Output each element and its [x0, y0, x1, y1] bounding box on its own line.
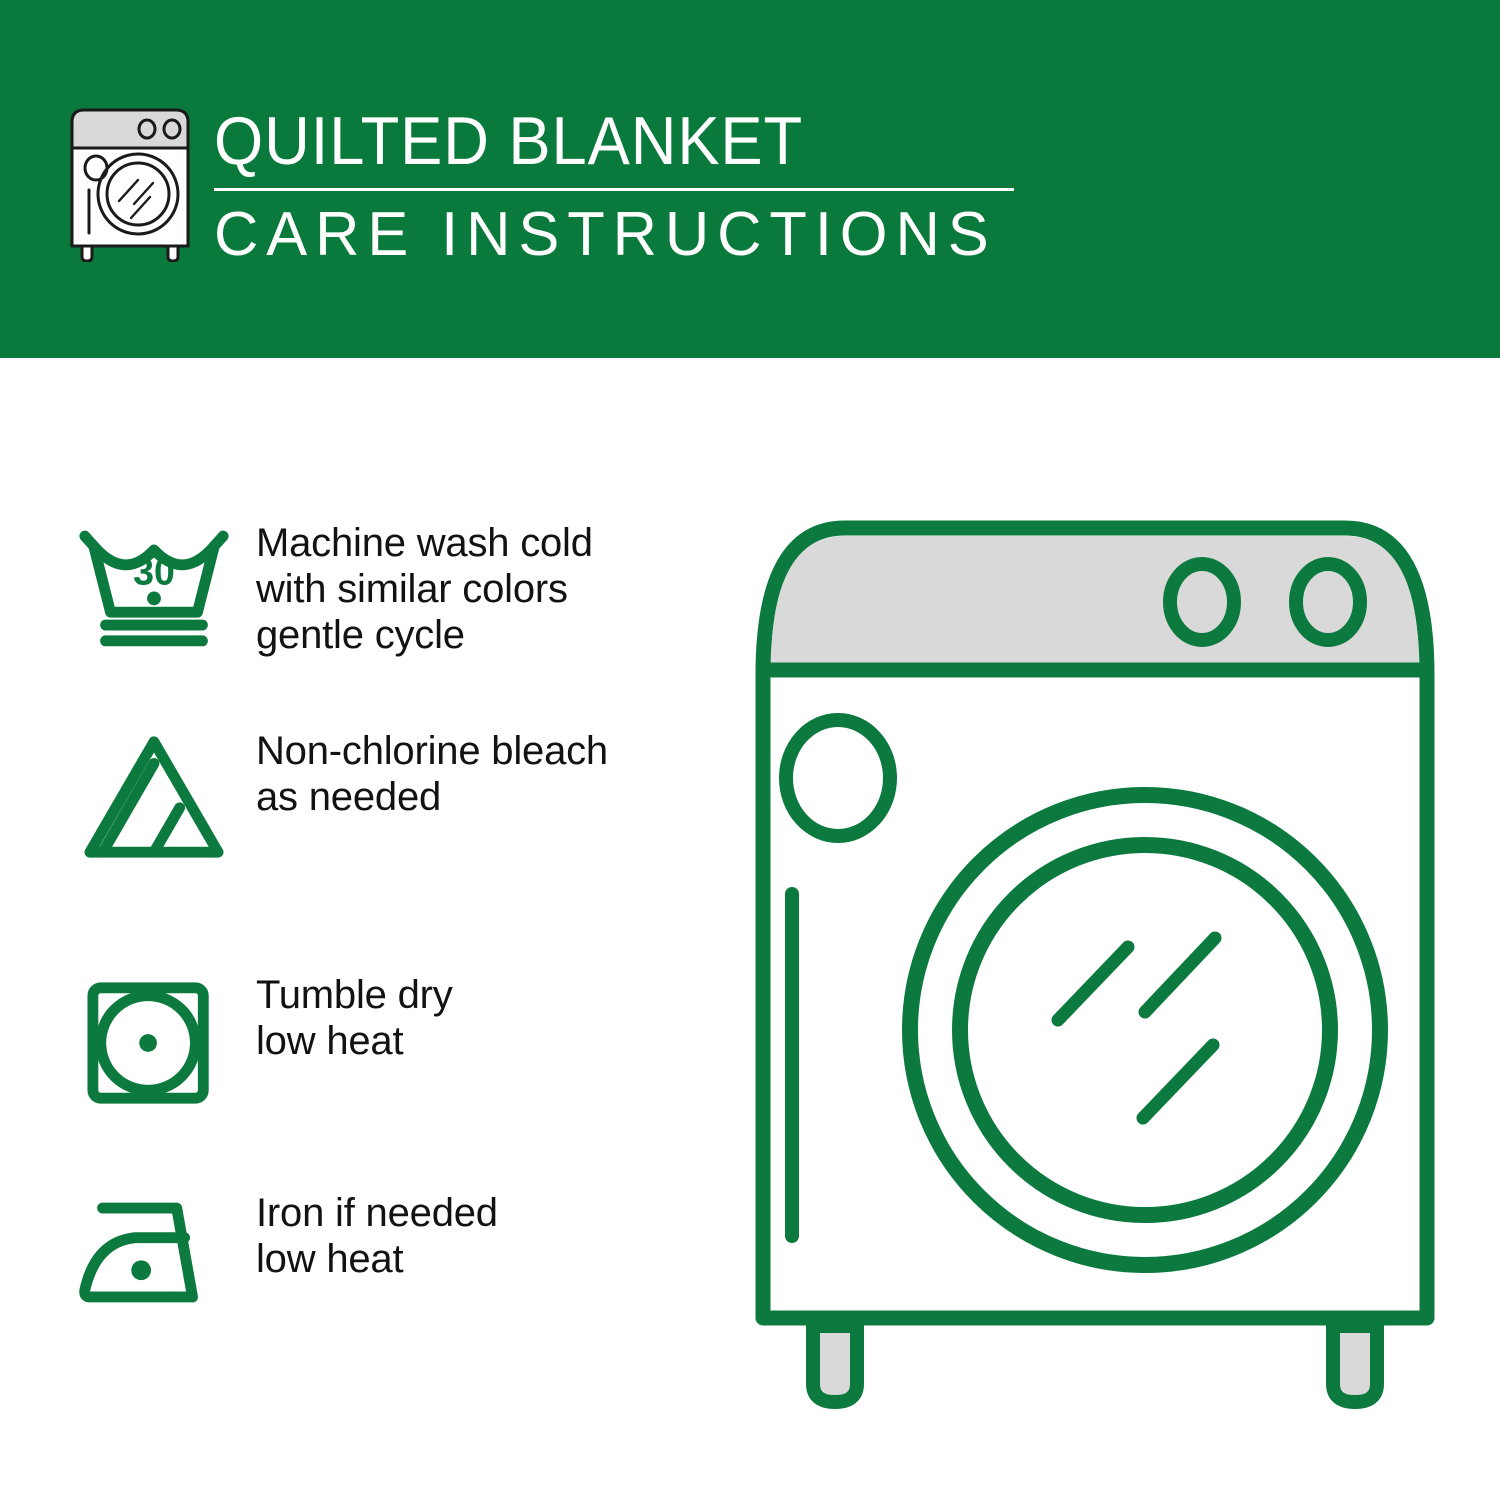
control-panel [771, 536, 1419, 670]
care-row-tumble-dry: Tumble dry low heat [70, 972, 710, 1110]
care-label-bleach: Non-chlorine bleach as needed [240, 728, 710, 820]
page-subtitle: CARE INSTRUCTIONS [214, 199, 1016, 271]
care-label-iron: Iron if needed low heat [240, 1190, 710, 1282]
iron-low-heat-icon [70, 1190, 240, 1314]
care-row-machine-wash: 30 Machine wash cold with similar colors… [70, 520, 710, 658]
care-label-line: gentle cycle [256, 612, 710, 658]
care-label-line: Tumble dry [256, 972, 710, 1018]
care-label-line: low heat [256, 1018, 710, 1064]
care-label-line: with similar colors [256, 566, 710, 612]
non-chlorine-bleach-triangle-icon [70, 728, 240, 866]
care-label-machine-wash: Machine wash cold with similar colors ge… [240, 520, 710, 658]
page-title: QUILTED BLANKET [214, 104, 967, 178]
wash-basin-30-gentle-icon: 30 [70, 520, 240, 654]
washing-machine-icon [64, 104, 196, 262]
header-title-group: QUILTED BLANKET CARE INSTRUCTIONS [214, 104, 1024, 271]
care-row-bleach: Non-chlorine bleach as needed [70, 728, 710, 866]
leg-right [1333, 1326, 1377, 1402]
care-label-line: Machine wash cold [256, 520, 710, 566]
title-divider [214, 188, 1014, 191]
care-label-line: Iron if needed [256, 1190, 710, 1236]
care-label-tumble-dry: Tumble dry low heat [240, 972, 710, 1064]
header-banner: QUILTED BLANKET CARE INSTRUCTIONS [0, 0, 1500, 358]
wash-temperature-label: 30 [133, 551, 175, 593]
care-label-line: low heat [256, 1236, 710, 1282]
tumble-dry-low-heat-icon [70, 972, 240, 1110]
front-load-washing-machine-illustration [745, 500, 1445, 1410]
care-label-line: Non-chlorine bleach [256, 728, 710, 774]
care-label-line: as needed [256, 774, 710, 820]
leg-left [813, 1326, 857, 1402]
care-row-iron: Iron if needed low heat [70, 1190, 710, 1314]
